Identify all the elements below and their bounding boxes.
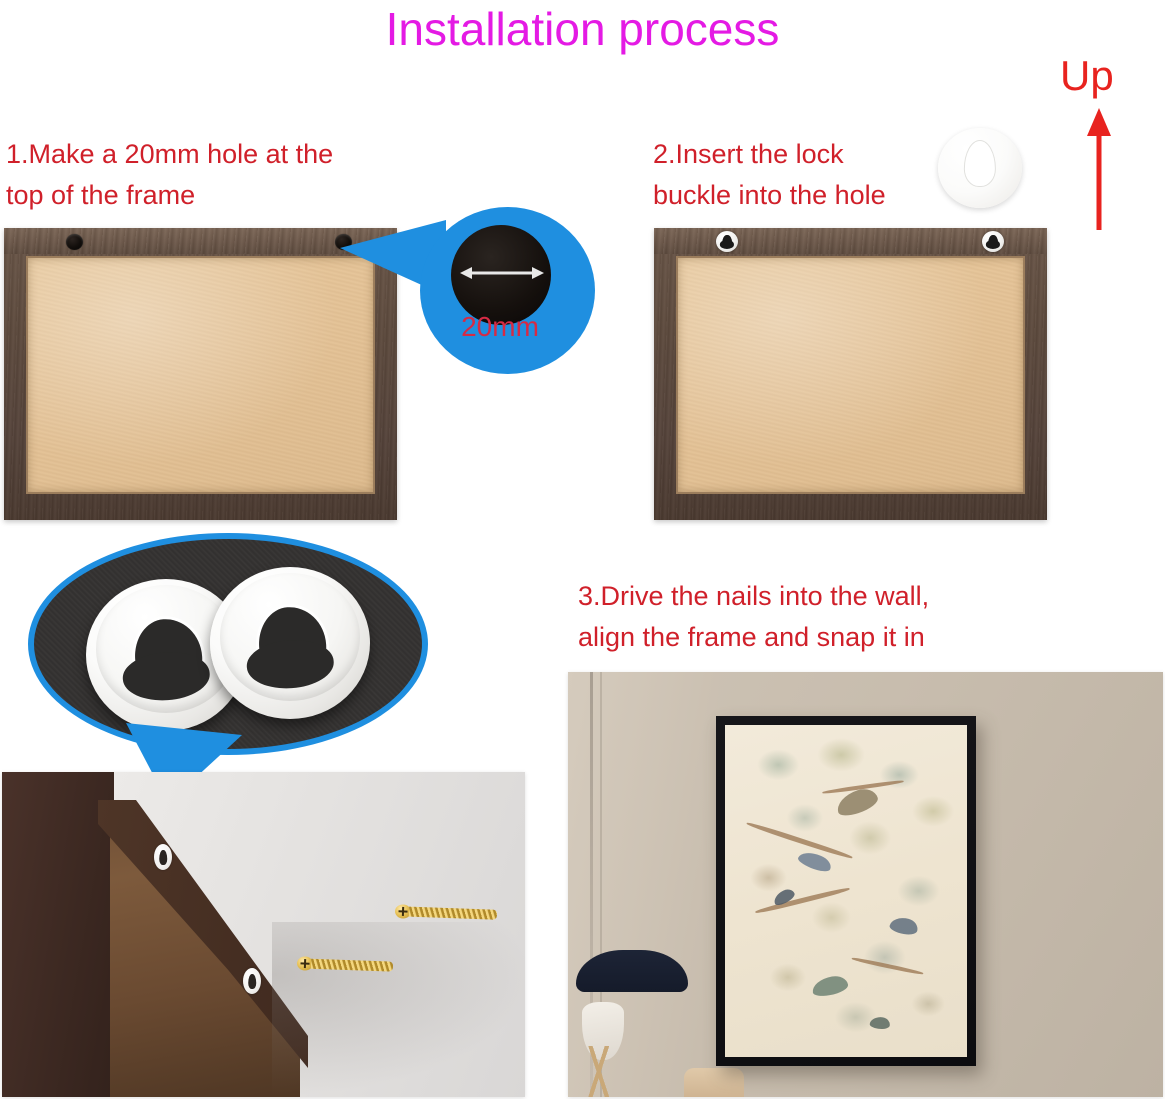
up-arrow-icon	[1083, 108, 1115, 234]
wall-screws-photo	[2, 772, 525, 1097]
hole-diameter-callout: 20mm	[420, 207, 595, 374]
picture-frame-back-with-buckles	[654, 228, 1047, 520]
hung-picture-frame	[716, 716, 976, 1066]
step-2-caption-line-2: buckle into the hole	[653, 175, 886, 216]
page-title: Installation process	[0, 2, 1165, 56]
step-2-caption-line-1: 2.Insert the lock	[653, 134, 886, 175]
wall-shadow	[272, 922, 525, 1097]
picture-mat	[725, 725, 967, 1057]
artwork-bird	[796, 849, 833, 876]
floor-lamp-legs	[576, 1046, 622, 1097]
artwork-branch	[851, 957, 923, 976]
artwork-birds-and-trees	[725, 725, 967, 1057]
lock-buckle-installed	[243, 968, 261, 994]
room-scene-photo	[568, 672, 1163, 1097]
step-2-caption: 2.Insert the lock buckle into the hole	[653, 134, 886, 216]
furniture-edge	[684, 1068, 744, 1097]
screw-shank	[311, 959, 393, 972]
wall-screw	[395, 904, 500, 922]
up-label: Up	[1060, 52, 1114, 100]
lock-buckle-sample	[210, 567, 370, 719]
step-1-caption: 1.Make a 20mm hole at the top of the fra…	[6, 134, 333, 216]
artwork-bird	[869, 1016, 890, 1031]
artwork-bird	[888, 914, 919, 936]
lock-buckle-keyhole	[722, 235, 732, 249]
step-3-caption-line-2: align the frame and snap it in	[578, 617, 929, 658]
lock-buckle-installed	[982, 231, 1004, 252]
lock-buckle-callout	[28, 533, 428, 766]
step-3-caption: 3.Drive the nails into the wall, align t…	[578, 576, 929, 658]
drilled-hole	[66, 234, 83, 250]
lock-buckle-loose	[938, 128, 1022, 208]
step-1-caption-line-1: 1.Make a 20mm hole at the	[6, 134, 333, 175]
step-3-caption-line-1: 3.Drive the nails into the wall,	[578, 576, 929, 617]
artwork-bird	[811, 974, 850, 998]
lock-buckle-installed	[716, 231, 738, 252]
frame-backing-board	[26, 256, 375, 494]
hole-diameter-label: 20mm	[420, 311, 580, 343]
frame-backing-board	[676, 256, 1025, 494]
step-1-caption-line-2: top of the frame	[6, 175, 333, 216]
orientation-indicator: Up	[1055, 52, 1151, 237]
frame-side-edge	[2, 772, 114, 1097]
diameter-arrow-icon	[460, 263, 544, 283]
screw-shank	[409, 907, 497, 920]
lock-buckle-keyhole	[965, 141, 995, 186]
artwork-branch	[755, 886, 850, 914]
lock-buckle-keyhole	[988, 235, 998, 249]
lock-buckle-installed	[154, 844, 172, 870]
